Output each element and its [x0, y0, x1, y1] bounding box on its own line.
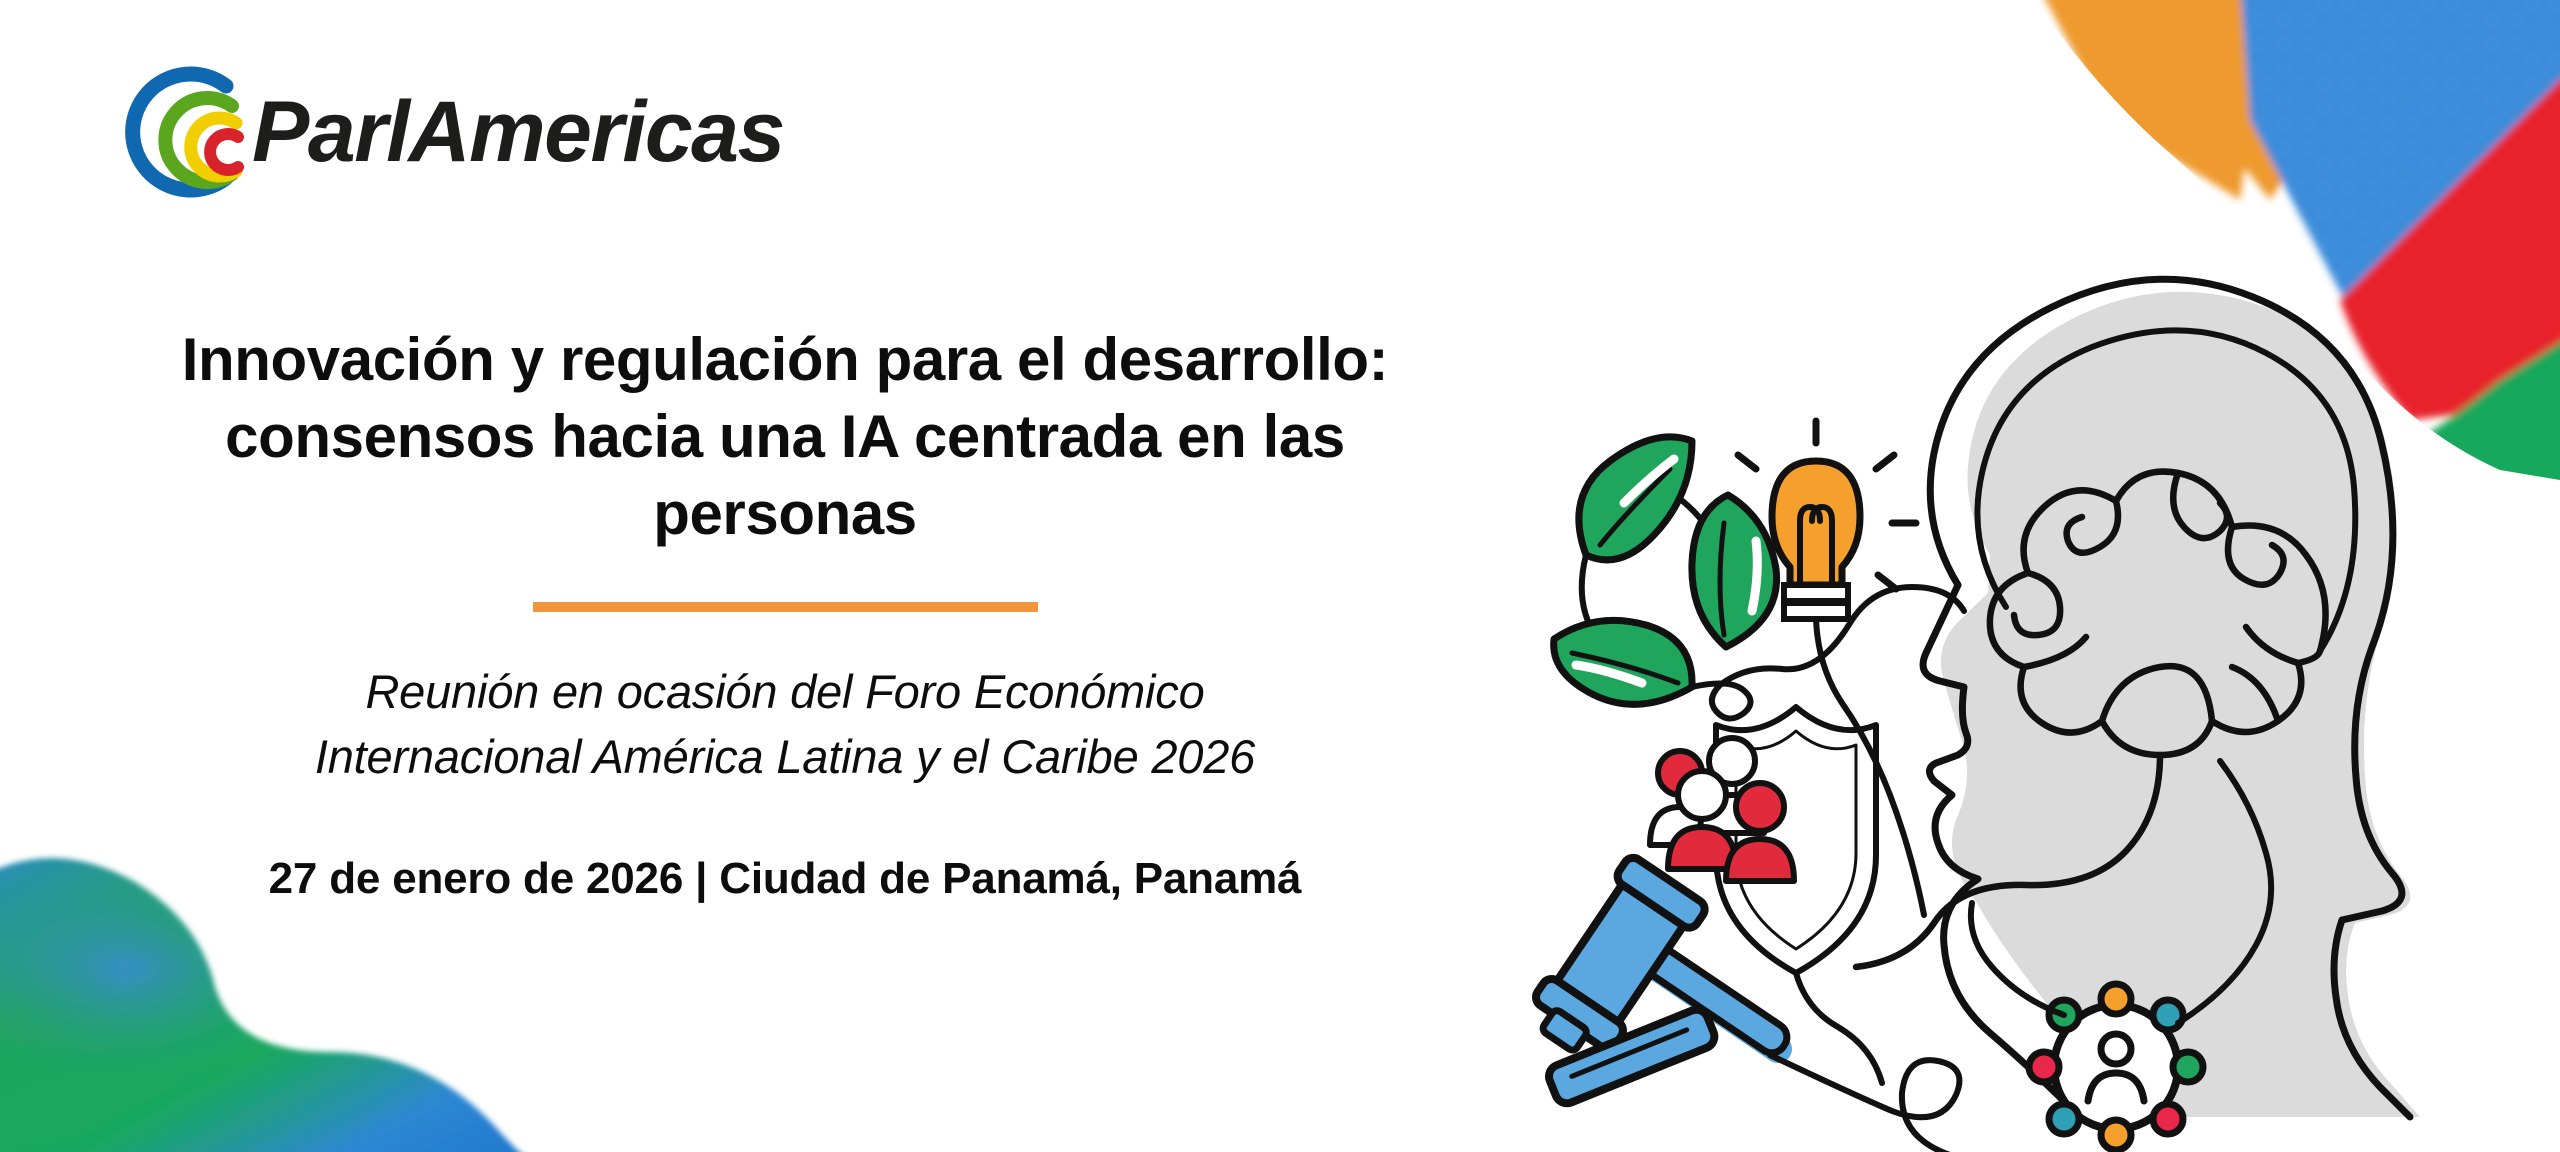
title-line-1: Innovación y regulación para el desarrol… [140, 322, 1430, 399]
divider-wrapper [140, 602, 1430, 612]
title-line-2: consensos hacia una IA centrada en las p… [140, 399, 1430, 553]
node-right [2173, 1052, 2203, 1082]
parlamericas-logo[interactable]: ParlAmericas [108, 52, 784, 212]
head-profile-brain [1856, 279, 2420, 1117]
event-date-location: 27 de enero de 2026 | Ciudad de Panamá, … [140, 850, 1430, 907]
illustration-svg [1520, 255, 2540, 1152]
node-left [2029, 1052, 2059, 1082]
subtitle-line-2: Internacional América Latina y el Caribe… [140, 725, 1430, 790]
ai-human-centred-illustration [1520, 255, 2540, 1152]
node-bottom-left [2049, 1104, 2079, 1134]
event-banner: ParlAmericas Innovación y regulación par… [0, 0, 2560, 1152]
leaves-vine-icon [1554, 437, 1964, 719]
node-bottom [2101, 1120, 2131, 1150]
event-text-column: Innovación y regulación para el desarrol… [140, 322, 1430, 907]
parlamericas-wordmark: ParlAmericas [252, 89, 784, 175]
node-top [2101, 984, 2131, 1014]
event-subtitle: Reunión en ocasión del Foro Económico In… [140, 660, 1430, 790]
orange-divider [533, 602, 1038, 612]
parlamericas-arc-logo-icon [108, 52, 258, 212]
subtitle-line-1: Reunión en ocasión del Foro Económico [140, 660, 1430, 725]
page-title: Innovación y regulación para el desarrol… [140, 322, 1430, 552]
node-bottom-right [2153, 1104, 2183, 1134]
